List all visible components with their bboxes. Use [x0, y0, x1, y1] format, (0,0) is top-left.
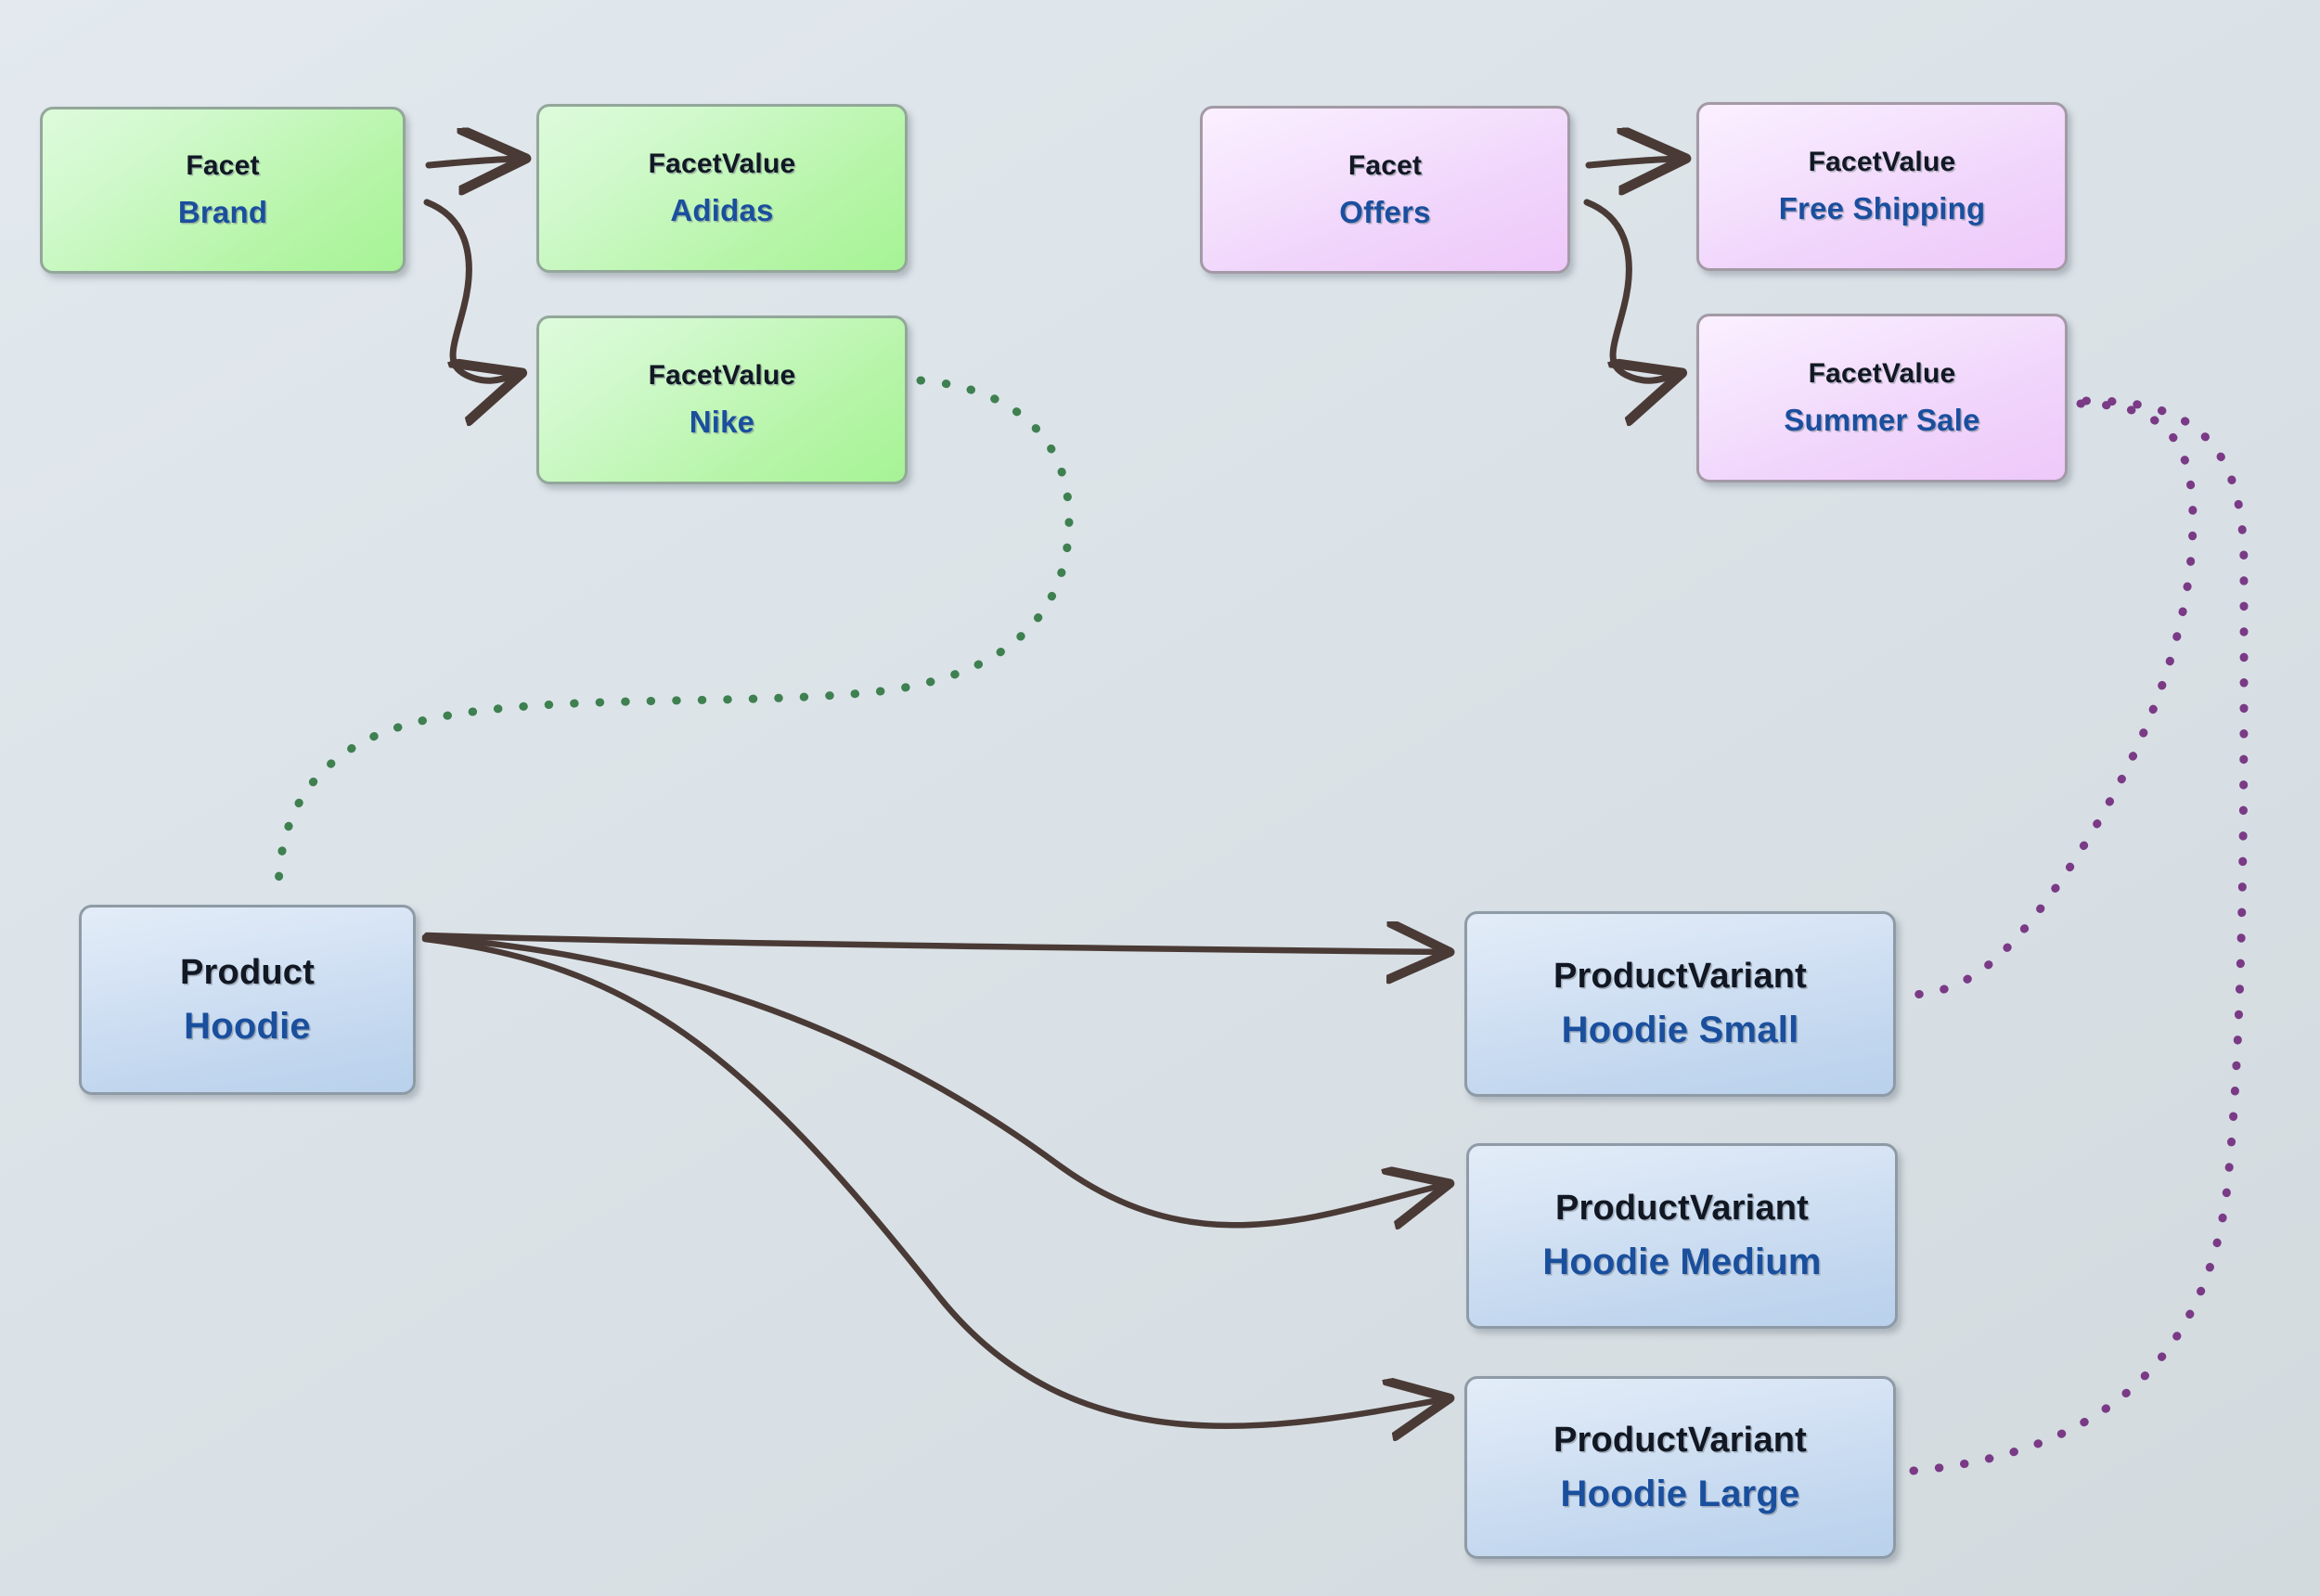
- node-type-label: ProductVariant: [1555, 1189, 1809, 1229]
- node-product-hoodie[interactable]: Product Hoodie: [79, 905, 416, 1095]
- node-type-label: ProductVariant: [1553, 1421, 1807, 1461]
- node-value-label: Free Shipping: [1779, 191, 1986, 226]
- node-value-label: Brand: [178, 195, 267, 230]
- node-variant-hoodie-large[interactable]: ProductVariant Hoodie Large: [1464, 1376, 1896, 1559]
- node-value-label: Hoodie: [184, 1006, 311, 1048]
- node-facetvalue-adidas[interactable]: FacetValue Adidas: [536, 104, 908, 273]
- node-type-label: Facet: [186, 150, 259, 182]
- node-value-label: Nike: [690, 405, 755, 440]
- node-type-label: ProductVariant: [1553, 957, 1807, 997]
- edge-offers-to-freeshipping: [1589, 159, 1680, 165]
- node-facetvalue-free-shipping[interactable]: FacetValue Free Shipping: [1696, 102, 2068, 271]
- node-variant-hoodie-medium[interactable]: ProductVariant Hoodie Medium: [1466, 1143, 1898, 1329]
- node-type-label: FacetValue: [649, 360, 796, 392]
- node-value-label: Summer Sale: [1784, 403, 1979, 438]
- node-value-label: Adidas: [670, 193, 773, 228]
- node-value-label: Hoodie Small: [1562, 1010, 1799, 1051]
- node-type-label: Facet: [1348, 150, 1422, 182]
- node-value-label: Offers: [1339, 195, 1430, 230]
- diagram-canvas: Product (green dotted) --> Hoodie Small …: [0, 0, 2320, 1596]
- node-type-label: FacetValue: [1809, 147, 1956, 178]
- edge-offers-to-summersale: [1587, 202, 1676, 380]
- node-facetvalue-summer-sale[interactable]: FacetValue Summer Sale: [1696, 314, 2068, 483]
- node-value-label: Hoodie Medium: [1542, 1242, 1821, 1283]
- node-facet-offers[interactable]: Facet Offers: [1200, 106, 1570, 274]
- node-facet-brand[interactable]: Facet Brand: [40, 107, 406, 274]
- edge-brand-to-nike: [427, 202, 516, 380]
- edge-summersale-to-large: [1914, 401, 2244, 1471]
- edge-product-to-medium: [425, 937, 1444, 1225]
- edge-summersale-to-small: [1914, 404, 2193, 995]
- node-value-label: Hoodie Large: [1561, 1474, 1800, 1515]
- node-type-label: Product: [180, 953, 315, 993]
- node-type-label: FacetValue: [1809, 358, 1956, 390]
- node-facetvalue-nike[interactable]: FacetValue Nike: [536, 315, 908, 484]
- edge-product-to-small: [427, 935, 1444, 952]
- edge-brand-to-adidas: [429, 159, 520, 165]
- edge-product-to-large: [425, 939, 1444, 1426]
- node-variant-hoodie-small[interactable]: ProductVariant Hoodie Small: [1464, 911, 1896, 1097]
- node-type-label: FacetValue: [649, 148, 796, 180]
